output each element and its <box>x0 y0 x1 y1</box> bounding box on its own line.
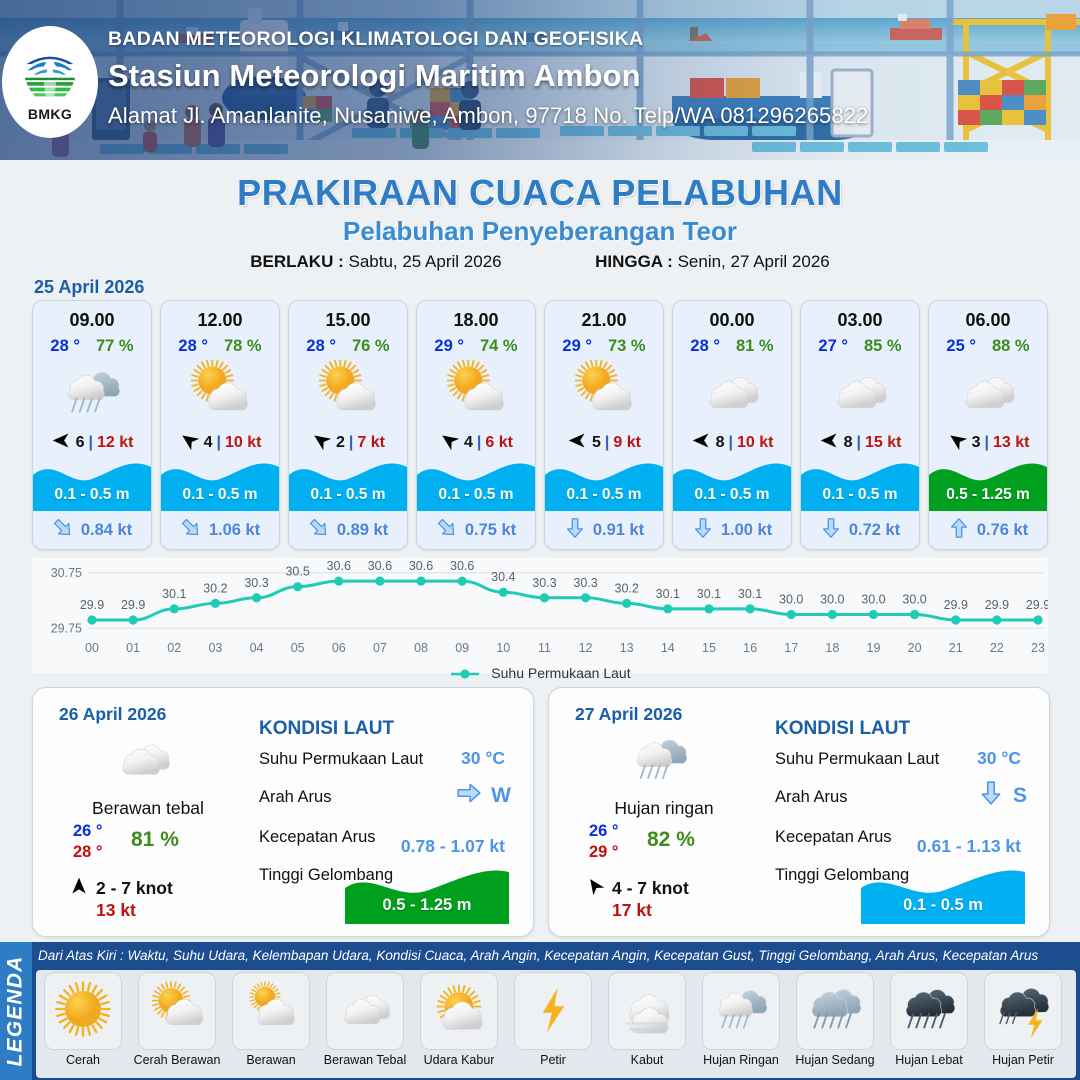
legend-item: Kabut <box>602 972 692 1067</box>
svg-text:30.6: 30.6 <box>368 559 392 573</box>
forecast-time: 18.00 <box>417 310 535 331</box>
svg-text:12: 12 <box>579 641 593 655</box>
wind-direction-icon <box>819 430 840 456</box>
legend-side-title: LEGENDA <box>4 955 28 1066</box>
legend-item-label: Cerah <box>66 1053 100 1067</box>
svg-text:21: 21 <box>949 641 963 655</box>
svg-text:29.9: 29.9 <box>1026 598 1048 612</box>
svg-text:04: 04 <box>250 641 264 655</box>
svg-text:14: 14 <box>661 641 675 655</box>
air-temperature: 28 ° <box>50 337 80 356</box>
current-direction-icon <box>820 517 842 544</box>
daily-summary-panel: 26 April 2026 Berawan tebal 26 ° 28 ° 81… <box>32 687 534 937</box>
weather-condition-icon <box>929 359 1047 425</box>
svg-text:30.6: 30.6 <box>409 559 433 573</box>
wind-info: 2 | 7 kt <box>289 431 407 455</box>
legend-icon-box <box>984 972 1062 1050</box>
sea-conditions-title: KONDISI LAUT <box>259 718 394 740</box>
weather-condition-icon <box>673 359 791 425</box>
current-direction-icon <box>948 517 970 544</box>
day-temp-min: 26 ° <box>73 821 103 842</box>
fog-icon <box>617 979 677 1044</box>
forecast-card: 12.00 28 ° 78 % 4 | 10 kt 0. <box>160 300 280 550</box>
page-title: PRAKIRAAN CUACA PELABUHAN <box>0 172 1080 214</box>
svg-text:09: 09 <box>455 641 469 655</box>
forecast-temp-humidity: 25 ° 88 % <box>929 337 1047 356</box>
humidity: 74 % <box>480 337 518 356</box>
forecast-time: 06.00 <box>929 310 1047 331</box>
svg-text:30.0: 30.0 <box>902 592 926 606</box>
legend-item: Hujan Ringan <box>696 972 786 1067</box>
svg-text:30.0: 30.0 <box>861 592 885 606</box>
page-header: BMKG BADAN METEOROLOGI KLIMATOLOGI DAN G… <box>0 0 1080 160</box>
current-info: 0.72 kt <box>801 511 919 549</box>
day-wind: 2 - 7 knot <box>69 876 173 901</box>
day-wind: 4 - 7 knot <box>585 876 689 901</box>
svg-text:29.9: 29.9 <box>80 598 104 612</box>
legend-item: Petir <box>508 972 598 1067</box>
sst-chart-svg: 30.7529.7529.90029.90130.10230.20330.304… <box>32 558 1048 673</box>
legend-items-row: Cerah Cerah Berawan Berawa <box>38 972 1074 1067</box>
svg-text:15: 15 <box>702 641 716 655</box>
legend-item: Udara Kabur <box>414 972 504 1067</box>
current-speed: 0.75 kt <box>465 521 516 540</box>
forecast-card: 00.00 28 ° 81 % 8 | 10 kt 0. <box>672 300 792 550</box>
air-temperature: 28 ° <box>690 337 720 356</box>
wave-height-value: 0.5 - 1.25 m <box>929 486 1047 504</box>
wave-height-value: 0.1 - 0.5 m <box>417 486 535 504</box>
svg-text:30.0: 30.0 <box>820 592 844 606</box>
svg-text:30.75: 30.75 <box>51 566 82 580</box>
legend-item: Berawan <box>226 972 316 1067</box>
current-direction-icon <box>180 517 202 544</box>
day-temp-max: 29 ° <box>589 842 619 863</box>
wave-height-band: 0.5 - 1.25 m <box>929 457 1047 511</box>
wind-separator: | <box>605 434 609 452</box>
svg-text:30.6: 30.6 <box>327 559 351 573</box>
wind-info: 4 | 10 kt <box>161 431 279 455</box>
svg-text:29.9: 29.9 <box>944 598 968 612</box>
wind-direction-value: 2 <box>336 434 345 452</box>
svg-text:30.1: 30.1 <box>697 587 721 601</box>
sea-current-direction-label: Arah Arus <box>259 788 331 807</box>
weather-condition-icon <box>161 359 279 425</box>
cloud-icon <box>335 979 395 1044</box>
bolt-icon <box>523 979 583 1044</box>
legend-item: Hujan Lebat <box>884 972 974 1067</box>
svg-text:06: 06 <box>332 641 346 655</box>
svg-text:10: 10 <box>496 641 510 655</box>
forecast-temp-humidity: 28 ° 78 % <box>161 337 279 356</box>
day-date: 26 April 2026 <box>59 704 166 725</box>
legend-icon-box <box>608 972 686 1050</box>
wind-direction-icon <box>311 430 332 456</box>
current-speed: 0.84 kt <box>81 521 132 540</box>
wind-separator: | <box>349 434 353 452</box>
sea-sst-label: Suhu Permukaan Laut <box>259 750 423 769</box>
berlaku-label: BERLAKU : <box>250 252 344 271</box>
humidity: 77 % <box>96 337 134 356</box>
legend-section: LEGENDA Dari Atas Kiri : Waktu, Suhu Uda… <box>0 942 1080 1080</box>
svg-text:19: 19 <box>867 641 881 655</box>
wave-height-value: 0.1 - 0.5 m <box>289 486 407 504</box>
wind-separator: | <box>477 434 481 452</box>
svg-text:29.75: 29.75 <box>51 621 82 635</box>
legend-icon-box <box>138 972 216 1050</box>
bmkg-logo: BMKG <box>2 26 98 138</box>
wave-height-band: 0.1 - 0.5 m <box>289 457 407 511</box>
current-speed: 0.91 kt <box>593 521 644 540</box>
humidity: 85 % <box>864 337 902 356</box>
current-speed: 0.72 kt <box>849 521 900 540</box>
rain-light-icon <box>711 979 771 1044</box>
header-text-block: BADAN METEOROLOGI KLIMATOLOGI DAN GEOFIS… <box>108 28 868 129</box>
forecast-card: 09.00 28 ° 77 % 6 | 12 kt 0. <box>32 300 152 550</box>
current-speed: 0.76 kt <box>977 521 1028 540</box>
forecast-temp-humidity: 28 ° 77 % <box>33 337 151 356</box>
station-address: Alamat Jl. Amanlanite, Nusaniwe, Ambon, … <box>108 103 868 129</box>
cloud-sun-small-icon <box>241 979 301 1044</box>
current-info: 0.75 kt <box>417 511 535 549</box>
humidity: 78 % <box>224 337 262 356</box>
svg-text:30.6: 30.6 <box>450 559 474 573</box>
air-temperature: 25 ° <box>946 337 976 356</box>
sea-current-direction-text: W <box>491 784 511 808</box>
wind-separator: | <box>984 434 988 452</box>
wave-height-band: 0.1 - 0.5 m <box>417 457 535 511</box>
validity-period: BERLAKU : Sabtu, 25 April 2026 HINGGA : … <box>0 252 1080 272</box>
humidity: 73 % <box>608 337 646 356</box>
wind-separator: | <box>728 434 732 452</box>
sea-conditions-title: KONDISI LAUT <box>775 718 910 740</box>
wind-separator: | <box>856 434 860 452</box>
legend-item: Berawan Tebal <box>320 972 410 1067</box>
day-temp-min: 26 ° <box>589 821 619 842</box>
hingga-label: HINGGA : <box>595 252 673 271</box>
legend-item: Hujan Sedang <box>790 972 880 1067</box>
bmkg-logo-text: BMKG <box>28 106 72 122</box>
forecast-temp-humidity: 29 ° 74 % <box>417 337 535 356</box>
legend-icon-box <box>702 972 780 1050</box>
air-temperature: 27 ° <box>818 337 848 356</box>
current-direction-icon <box>308 517 330 544</box>
legend-item-label: Hujan Petir <box>992 1053 1054 1067</box>
wind-direction-value: 3 <box>972 434 981 452</box>
wind-direction-icon <box>691 430 712 456</box>
air-temperature: 29 ° <box>562 337 592 356</box>
forecast-time: 15.00 <box>289 310 407 331</box>
legend-item: Hujan Petir <box>978 972 1068 1067</box>
humidity: 76 % <box>352 337 390 356</box>
forecast-temp-humidity: 29 ° 73 % <box>545 337 663 356</box>
svg-text:05: 05 <box>291 641 305 655</box>
sun-cloud-icon <box>147 979 207 1044</box>
sea-wave-height-band: 0.1 - 0.5 m <box>861 866 1025 924</box>
wave-height-value: 0.1 - 0.5 m <box>545 486 663 504</box>
rain-moderate-icon <box>805 979 865 1044</box>
day-weather-icon <box>95 728 193 790</box>
svg-text:22: 22 <box>990 641 1004 655</box>
forecast-card: 03.00 27 ° 85 % 8 | 15 kt 0. <box>800 300 920 550</box>
wave-height-band: 0.1 - 0.5 m <box>33 457 151 511</box>
weather-condition-icon <box>417 359 535 425</box>
forecast-time: 03.00 <box>801 310 919 331</box>
current-info: 1.06 kt <box>161 511 279 549</box>
wind-speed: 10 kt <box>737 434 773 452</box>
sea-wave-height-value: 0.1 - 0.5 m <box>861 896 1025 915</box>
sea-sst-value: 30 °C <box>461 748 505 769</box>
legend-note: Dari Atas Kiri : Waktu, Suhu Udara, Kele… <box>38 948 1074 963</box>
air-temperature: 28 ° <box>306 337 336 356</box>
weather-condition-icon <box>33 359 151 425</box>
daily-summary-panel: 27 April 2026 Hujan ringan 26 ° 29 ° 82 … <box>548 687 1050 937</box>
wind-info: 4 | 6 kt <box>417 431 535 455</box>
svg-text:30.1: 30.1 <box>738 587 762 601</box>
day-condition-label: Berawan tebal <box>53 798 243 819</box>
wind-direction-icon <box>439 430 460 456</box>
svg-text:11: 11 <box>538 641 551 655</box>
wind-direction-value: 6 <box>76 434 85 452</box>
current-speed: 1.00 kt <box>721 521 772 540</box>
forecast-time: 00.00 <box>673 310 791 331</box>
wave-height-value: 0.1 - 0.5 m <box>33 486 151 504</box>
svg-text:13: 13 <box>620 641 634 655</box>
wind-speed: 13 kt <box>993 434 1029 452</box>
humidity: 88 % <box>992 337 1030 356</box>
weather-condition-icon <box>289 359 407 425</box>
legend-item: Cerah <box>38 972 128 1067</box>
chart-legend-label: Suhu Permukaan Laut <box>491 665 630 681</box>
svg-text:16: 16 <box>743 641 757 655</box>
wind-speed: 7 kt <box>357 434 385 452</box>
forecast-card: 15.00 28 ° 76 % 2 | 7 kt 0.1 <box>288 300 408 550</box>
svg-text:07: 07 <box>373 641 387 655</box>
day-temp-max: 28 ° <box>73 842 103 863</box>
current-info: 1.00 kt <box>673 511 791 549</box>
svg-text:30.1: 30.1 <box>162 587 186 601</box>
current-direction-icon <box>52 517 74 544</box>
svg-text:18: 18 <box>825 641 839 655</box>
wind-direction-value: 4 <box>204 434 213 452</box>
svg-text:30.4: 30.4 <box>491 570 515 584</box>
current-info: 0.91 kt <box>545 511 663 549</box>
forecast-temp-humidity: 27 ° 85 % <box>801 337 919 356</box>
day-temperature-range: 26 ° 29 ° <box>589 821 619 863</box>
wind-info: 3 | 13 kt <box>929 431 1047 455</box>
legend-item-label: Hujan Lebat <box>895 1053 962 1067</box>
legend-item-label: Hujan Sedang <box>795 1053 874 1067</box>
rain-thunder-icon <box>993 979 1053 1044</box>
sea-current-direction-label: Arah Arus <box>775 788 847 807</box>
svg-text:01: 01 <box>126 641 140 655</box>
wave-height-value: 0.1 - 0.5 m <box>673 486 791 504</box>
wind-direction-value: 8 <box>716 434 725 452</box>
hingga-value: Senin, 27 April 2026 <box>678 252 830 271</box>
legend-item-label: Hujan Ringan <box>703 1053 779 1067</box>
chart-legend-marker <box>449 668 481 680</box>
page-subtitle: Pelabuhan Penyeberangan Teor <box>0 216 1080 247</box>
forecast-date-label: 25 April 2026 <box>34 277 144 298</box>
svg-text:30.5: 30.5 <box>285 565 309 579</box>
wind-info: 6 | 12 kt <box>33 431 151 455</box>
sea-current-speed-label: Kecepatan Arus <box>775 828 892 847</box>
current-info: 0.89 kt <box>289 511 407 549</box>
wave-height-band: 0.1 - 0.5 m <box>545 457 663 511</box>
wind-info: 8 | 15 kt <box>801 431 919 455</box>
sea-sst-value: 30 °C <box>977 748 1021 769</box>
svg-text:08: 08 <box>414 641 428 655</box>
legend-icon-box <box>420 972 498 1050</box>
agency-name: BADAN METEOROLOGI KLIMATOLOGI DAN GEOFIS… <box>108 28 868 51</box>
day-weather-icon <box>611 728 709 790</box>
wind-direction-icon <box>179 430 200 456</box>
svg-text:03: 03 <box>208 641 222 655</box>
wind-info: 5 | 9 kt <box>545 431 663 455</box>
wave-height-band: 0.1 - 0.5 m <box>673 457 791 511</box>
sea-current-direction-value: S <box>978 780 1027 811</box>
legend-item-label: Kabut <box>631 1053 664 1067</box>
hourly-forecast-row: 09.00 28 ° 77 % 6 | 12 kt 0. <box>32 300 1048 550</box>
sun-icon <box>53 979 113 1044</box>
legend-item: Cerah Berawan <box>132 972 222 1067</box>
wave-height-band: 0.1 - 0.5 m <box>161 457 279 511</box>
forecast-time: 21.00 <box>545 310 663 331</box>
air-temperature: 28 ° <box>178 337 208 356</box>
legend-item-label: Berawan <box>246 1053 295 1067</box>
legend-side-banner: LEGENDA <box>0 942 32 1080</box>
current-direction-icon <box>692 517 714 544</box>
wave-height-value: 0.1 - 0.5 m <box>801 486 919 504</box>
day-wind-direction-icon <box>69 876 89 901</box>
wind-direction-value: 8 <box>844 434 853 452</box>
svg-text:30.0: 30.0 <box>779 592 803 606</box>
wind-info: 8 | 10 kt <box>673 431 791 455</box>
wind-direction-value: 4 <box>464 434 473 452</box>
svg-text:30.2: 30.2 <box>203 581 227 595</box>
legend-item-label: Berawan Tebal <box>324 1053 406 1067</box>
sea-current-direction-icon <box>456 780 482 811</box>
day-temperature-range: 26 ° 28 ° <box>73 821 103 863</box>
wind-speed: 9 kt <box>613 434 641 452</box>
wind-separator: | <box>216 434 220 452</box>
forecast-time: 09.00 <box>33 310 151 331</box>
sea-wave-height-value: 0.5 - 1.25 m <box>345 896 509 915</box>
current-speed: 0.89 kt <box>337 521 388 540</box>
day-gust-speed: 13 kt <box>96 900 136 921</box>
legend-item-label: Petir <box>540 1053 566 1067</box>
wind-separator: | <box>88 434 92 452</box>
svg-text:30.2: 30.2 <box>615 581 639 595</box>
svg-text:02: 02 <box>167 641 181 655</box>
day-wind-speed-range: 4 - 7 knot <box>612 878 689 899</box>
wave-height-band: 0.1 - 0.5 m <box>801 457 919 511</box>
legend-icon-box <box>514 972 592 1050</box>
sea-current-speed-value: 0.78 - 1.07 kt <box>401 836 505 857</box>
wind-speed: 6 kt <box>485 434 513 452</box>
sea-current-direction-value: W <box>456 780 511 811</box>
wind-direction-icon <box>567 430 588 456</box>
svg-text:17: 17 <box>784 641 798 655</box>
svg-text:29.9: 29.9 <box>121 598 145 612</box>
sea-surface-temperature-chart: 30.7529.7529.90029.90130.10230.20330.304… <box>32 558 1048 673</box>
svg-text:30.3: 30.3 <box>532 576 556 590</box>
wind-speed: 10 kt <box>225 434 261 452</box>
svg-text:20: 20 <box>908 641 922 655</box>
wind-direction-icon <box>51 430 72 456</box>
day-gust-speed: 17 kt <box>612 900 652 921</box>
svg-text:00: 00 <box>85 641 99 655</box>
weather-condition-icon <box>545 359 663 425</box>
forecast-card: 06.00 25 ° 88 % 3 | 13 kt 0. <box>928 300 1048 550</box>
day-condition-label: Hujan ringan <box>569 798 759 819</box>
wind-speed: 15 kt <box>865 434 901 452</box>
forecast-temp-humidity: 28 ° 81 % <box>673 337 791 356</box>
svg-text:30.3: 30.3 <box>573 576 597 590</box>
day-humidity: 81 % <box>131 828 179 852</box>
legend-item-label: Udara Kabur <box>424 1053 495 1067</box>
svg-text:29.9: 29.9 <box>985 598 1009 612</box>
sea-current-direction-icon <box>978 780 1004 811</box>
bmkg-logo-mark <box>19 43 81 105</box>
sea-current-speed-label: Kecepatan Arus <box>259 828 376 847</box>
forecast-card: 18.00 29 ° 74 % 4 | 6 kt 0.1 <box>416 300 536 550</box>
station-name: Stasiun Meteorologi Maritim Ambon <box>108 58 868 94</box>
legend-icon-box <box>44 972 122 1050</box>
current-info: 0.76 kt <box>929 511 1047 549</box>
chart-legend: Suhu Permukaan Laut <box>0 665 1080 681</box>
legend-icon-box <box>232 972 310 1050</box>
sea-current-speed-value: 0.61 - 1.13 kt <box>917 836 1021 857</box>
legend-item-label: Cerah Berawan <box>134 1053 221 1067</box>
current-speed: 1.06 kt <box>209 521 260 540</box>
wave-height-value: 0.1 - 0.5 m <box>161 486 279 504</box>
day-humidity: 82 % <box>647 828 695 852</box>
weather-condition-icon <box>801 359 919 425</box>
wind-speed: 12 kt <box>97 434 133 452</box>
sea-sst-label: Suhu Permukaan Laut <box>775 750 939 769</box>
day-wind-direction-icon <box>585 876 605 901</box>
berlaku-value: Sabtu, 25 April 2026 <box>348 252 501 271</box>
day-date: 27 April 2026 <box>575 704 682 725</box>
forecast-time: 12.00 <box>161 310 279 331</box>
rain-heavy-icon <box>899 979 959 1044</box>
wind-direction-icon <box>947 430 968 456</box>
wind-direction-value: 5 <box>592 434 601 452</box>
legend-icon-box <box>326 972 404 1050</box>
sea-wave-height-band: 0.5 - 1.25 m <box>345 866 509 924</box>
svg-text:23: 23 <box>1031 641 1045 655</box>
humidity: 81 % <box>736 337 774 356</box>
current-info: 0.84 kt <box>33 511 151 549</box>
sea-current-direction-text: S <box>1013 784 1027 808</box>
legend-icon-box <box>796 972 874 1050</box>
legend-icon-box <box>890 972 968 1050</box>
forecast-temp-humidity: 28 ° 76 % <box>289 337 407 356</box>
forecast-card: 21.00 29 ° 73 % 5 | 9 kt 0.1 <box>544 300 664 550</box>
svg-text:30.3: 30.3 <box>244 576 268 590</box>
air-temperature: 29 ° <box>434 337 464 356</box>
day-wind-speed-range: 2 - 7 knot <box>96 878 173 899</box>
svg-text:30.1: 30.1 <box>656 587 680 601</box>
current-direction-icon <box>436 517 458 544</box>
current-direction-icon <box>564 517 586 544</box>
haze-icon <box>429 979 489 1044</box>
